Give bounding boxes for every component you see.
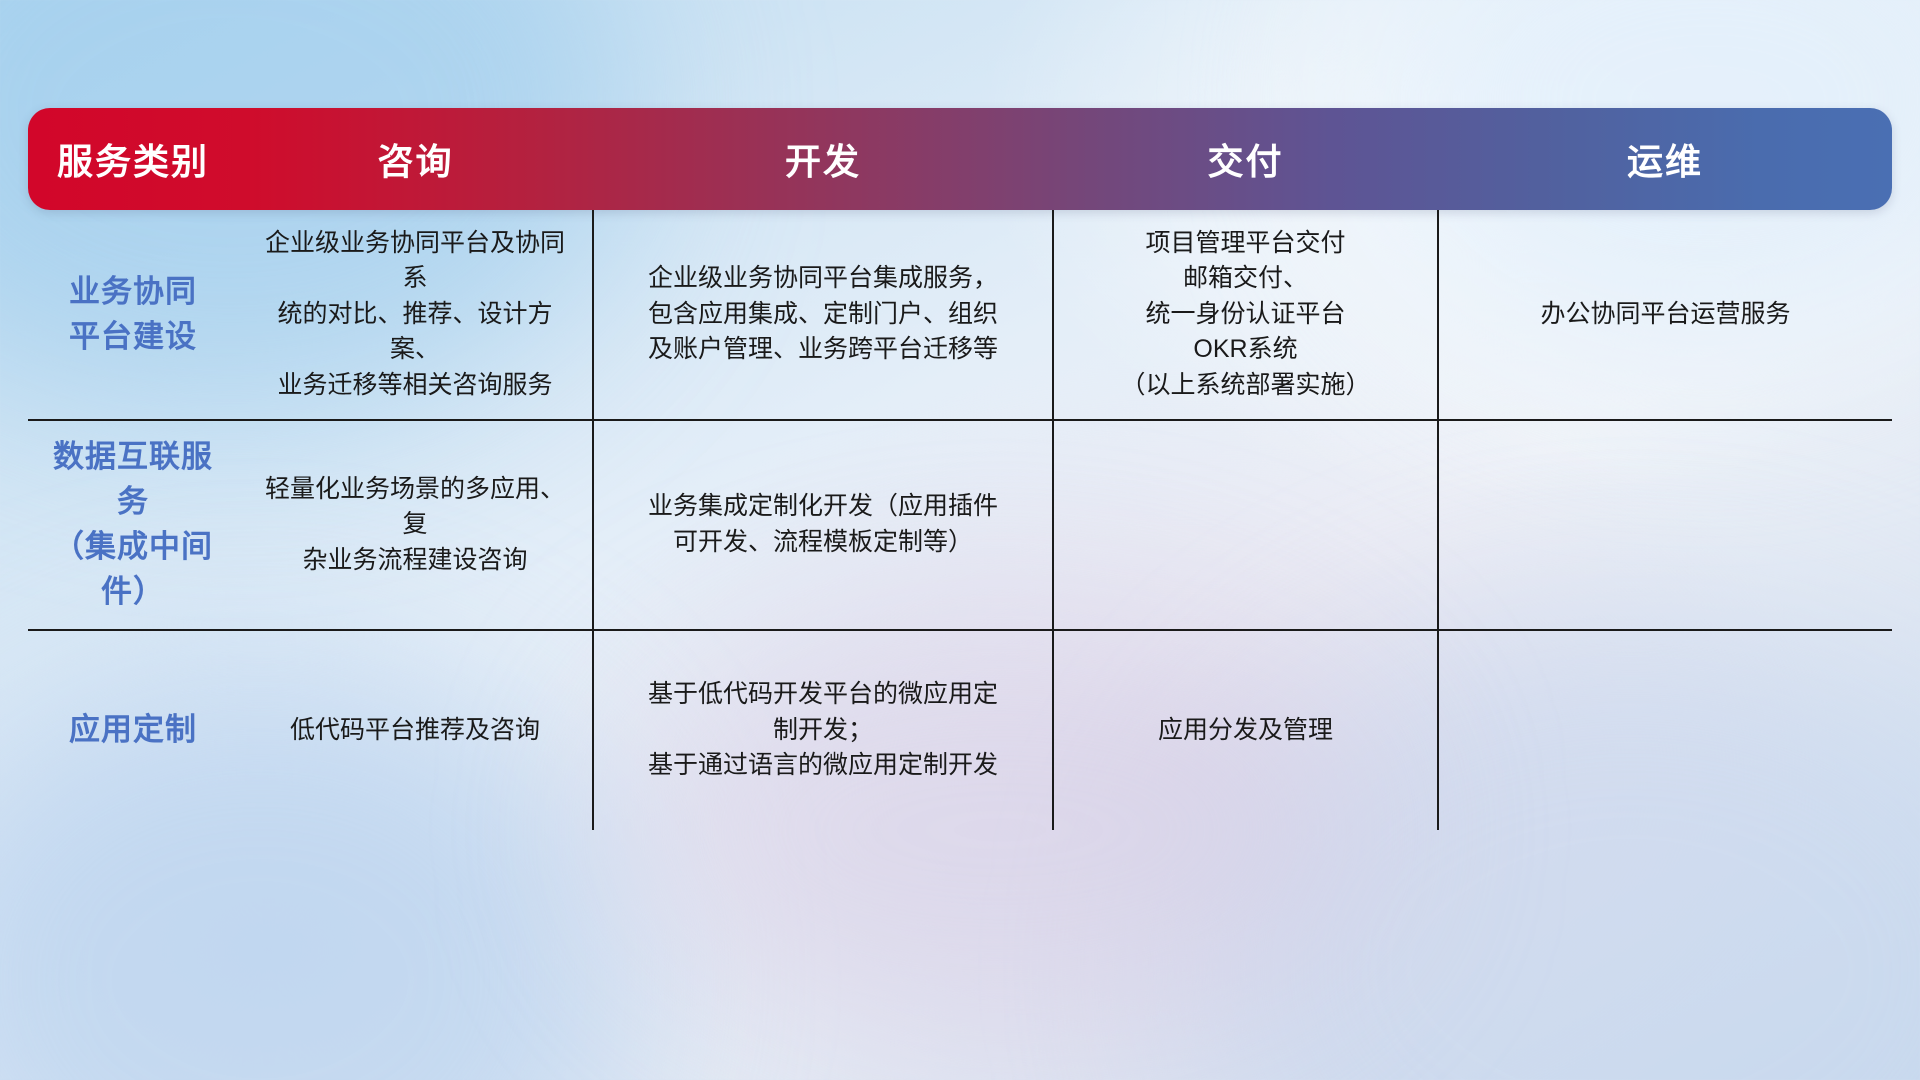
- column-header-operate: 运维: [1438, 108, 1892, 210]
- cell-consult: 低代码平台推荐及咨询: [238, 630, 593, 830]
- table-body: 业务协同 平台建设 企业级业务协同平台及协同系 统的对比、推荐、设计方案、 业务…: [28, 210, 1892, 830]
- cell-develop: 基于低代码开发平台的微应用定 制开发； 基于通过语言的微应用定制开发: [593, 630, 1053, 830]
- cell-consult: 轻量化业务场景的多应用、复 杂业务流程建设咨询: [238, 420, 593, 630]
- column-header-deliver: 交付: [1053, 108, 1438, 210]
- row-category-label: 数据互联服务 （集成中间件）: [28, 420, 238, 630]
- cell-operate: 办公协同平台运营服务: [1438, 210, 1892, 420]
- table-header: 服务类别 咨询 开发 交付 运维: [28, 108, 1892, 210]
- cell-operate: [1438, 630, 1892, 830]
- row-category-label: 应用定制: [28, 630, 238, 830]
- row-category-label: 业务协同 平台建设: [28, 210, 238, 420]
- column-header-develop: 开发: [593, 108, 1053, 210]
- table-row: 数据互联服务 （集成中间件） 轻量化业务场景的多应用、复 杂业务流程建设咨询 业…: [28, 420, 1892, 630]
- cell-consult: 企业级业务协同平台及协同系 统的对比、推荐、设计方案、 业务迁移等相关咨询服务: [238, 210, 593, 420]
- table-row: 业务协同 平台建设 企业级业务协同平台及协同系 统的对比、推荐、设计方案、 业务…: [28, 210, 1892, 420]
- service-matrix-table: 服务类别 咨询 开发 交付 运维 业务协同 平台建设 企业级业务协同平台及协同系…: [28, 108, 1892, 830]
- column-header-consult: 咨询: [238, 108, 593, 210]
- cell-develop: 业务集成定制化开发（应用插件 可开发、流程模板定制等）: [593, 420, 1053, 630]
- cell-operate: [1438, 420, 1892, 630]
- column-header-category: 服务类别: [28, 108, 238, 210]
- table-row: 应用定制 低代码平台推荐及咨询 基于低代码开发平台的微应用定 制开发； 基于通过…: [28, 630, 1892, 830]
- cell-deliver: 项目管理平台交付 邮箱交付、 统一身份认证平台 OKR系统 （以上系统部署实施）: [1053, 210, 1438, 420]
- cell-deliver: [1053, 420, 1438, 630]
- cell-develop: 企业级业务协同平台集成服务， 包含应用集成、定制门户、组织 及账户管理、业务跨平…: [593, 210, 1053, 420]
- cell-deliver: 应用分发及管理: [1053, 630, 1438, 830]
- service-matrix-table-wrapper: 服务类别 咨询 开发 交付 运维 业务协同 平台建设 企业级业务协同平台及协同系…: [28, 108, 1892, 830]
- table-header-row: 服务类别 咨询 开发 交付 运维: [28, 108, 1892, 210]
